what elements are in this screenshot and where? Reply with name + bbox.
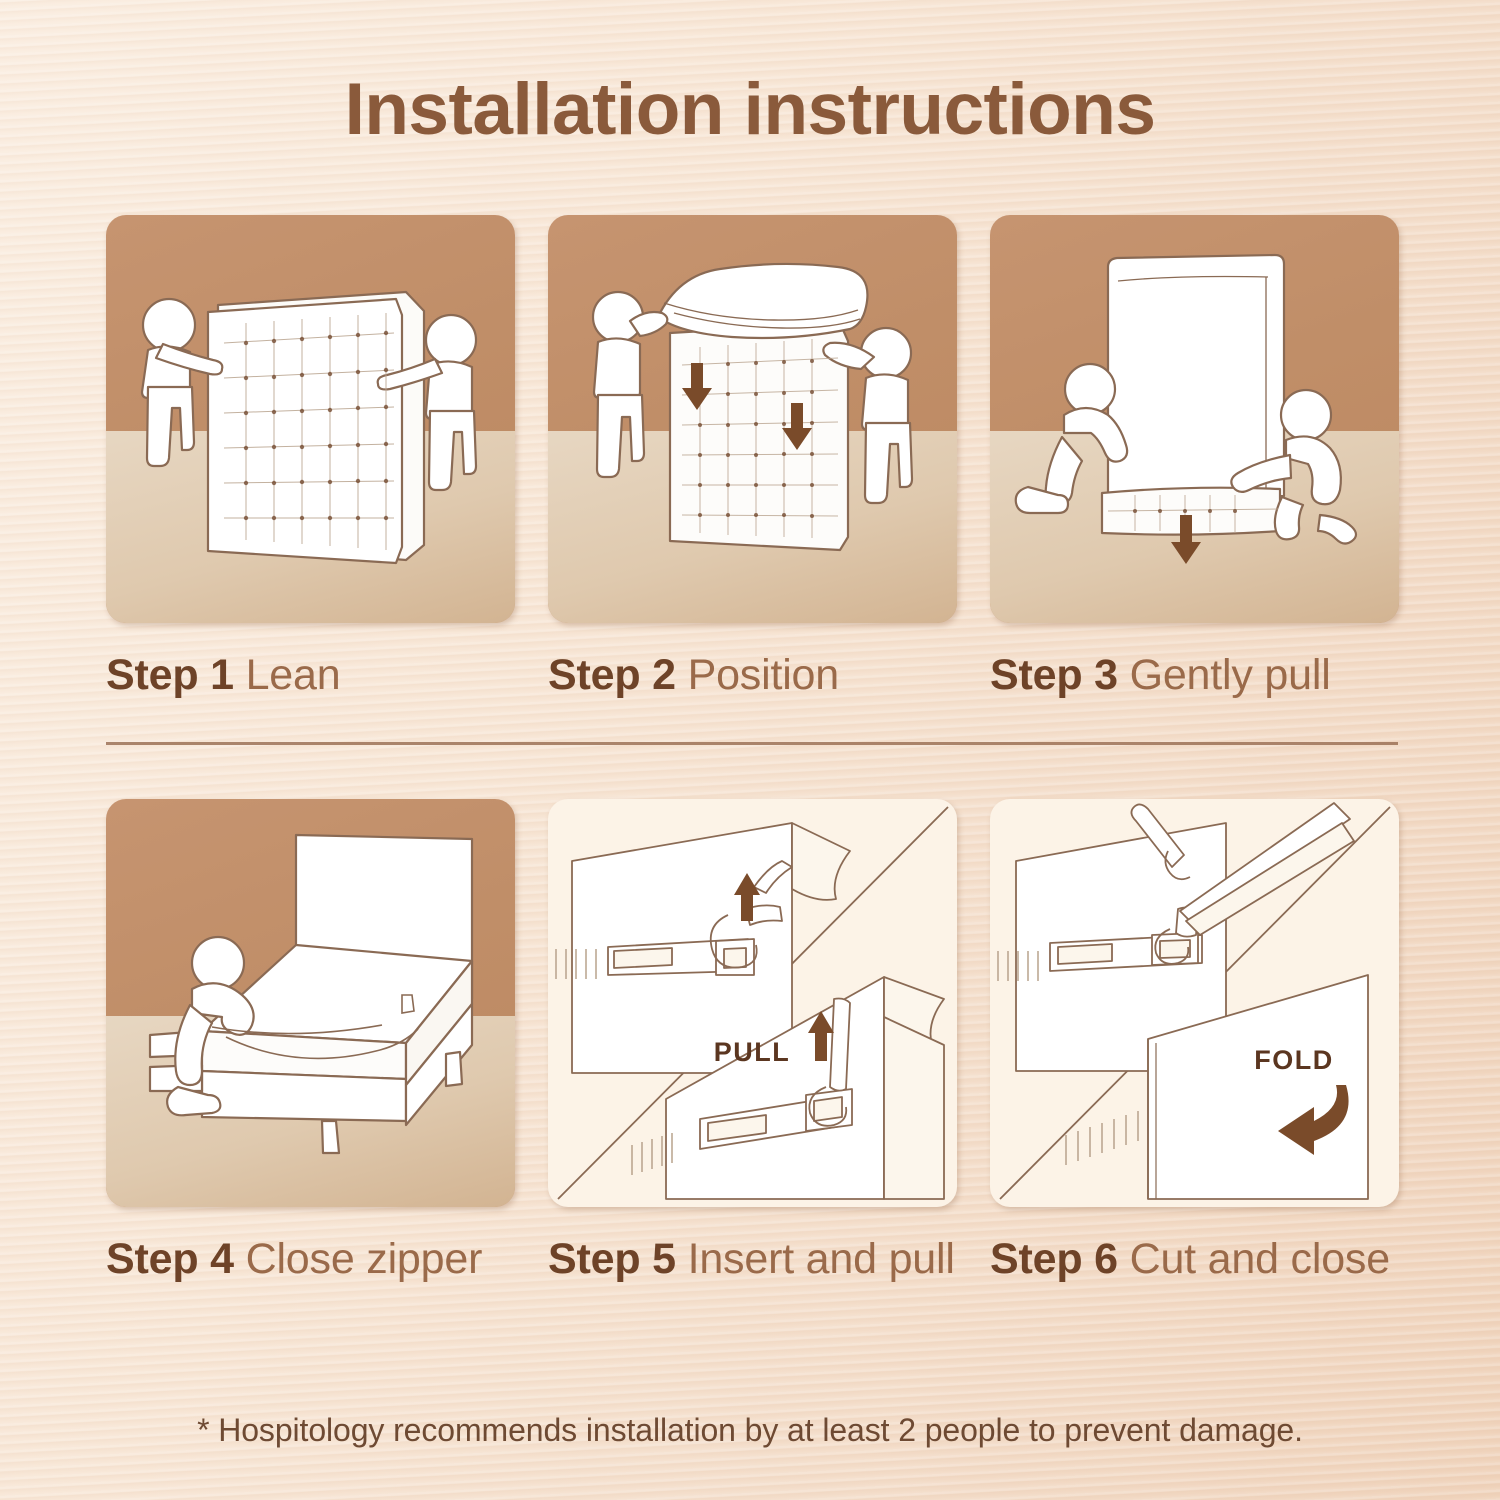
step-1-illustration [106,215,515,623]
step-1-caption: Step 1 Lean [106,649,515,702]
step-4-illustration [106,799,515,1207]
steps-grid: Step 1 Lean [106,215,1398,1287]
step-5-drawing: PULL [548,799,957,1207]
step-6-caption: Step 6 Cut and close [990,1233,1399,1286]
row-divider [106,742,1398,745]
step-card-5: PULL Step 5 Insert and pull [548,799,957,1286]
step-2-illustration [548,215,957,623]
steps-row-1: Step 1 Lean [106,215,1398,702]
step-5-caption: Step 5 Insert and pull [548,1233,957,1286]
step-2-drawing [548,215,957,623]
step-2-number: Step 2 [548,651,676,699]
step-3-number: Step 3 [990,651,1118,699]
step-4-caption: Step 4 Close zipper [106,1233,515,1286]
step-6-number: Step 6 [990,1235,1118,1283]
step-2-caption: Step 2 Position [548,649,957,702]
step-6-illustration: FOLD [990,799,1399,1207]
step-3-label: Gently pull [1130,651,1331,699]
page-title: Installation instructions [0,68,1500,151]
step-4-number: Step 4 [106,1235,234,1283]
step-2-label: Position [688,651,839,699]
steps-row-2: Step 4 Close zipper [106,799,1398,1286]
step-card-4: Step 4 Close zipper [106,799,515,1286]
pull-callout-label: PULL [714,1037,791,1067]
step-1-drawing [106,215,515,623]
step-3-illustration [990,215,1399,623]
step-1-label: Lean [246,651,341,699]
step-card-3: Step 3 Gently pull [990,215,1399,702]
installation-instructions-page: Installation instructions [0,0,1500,1500]
fold-callout-label: FOLD [1254,1045,1334,1075]
step-card-2: Step 2 Position [548,215,957,702]
step-3-drawing [990,215,1399,623]
step-4-drawing [106,799,515,1207]
footnote: * Hospitology recommends installation by… [0,1412,1500,1449]
step-5-label: Insert and pull [688,1235,955,1283]
step-5-number: Step 5 [548,1235,676,1283]
step-1-number: Step 1 [106,651,234,699]
step-card-6: FOLD Step 6 Cut and close [990,799,1399,1286]
step-5-illustration: PULL [548,799,957,1207]
step-6-label: Cut and close [1130,1235,1390,1283]
step-3-caption: Step 3 Gently pull [990,649,1399,702]
step-6-drawing: FOLD [990,799,1399,1207]
step-4-label: Close zipper [246,1235,483,1283]
step-card-1: Step 1 Lean [106,215,515,702]
